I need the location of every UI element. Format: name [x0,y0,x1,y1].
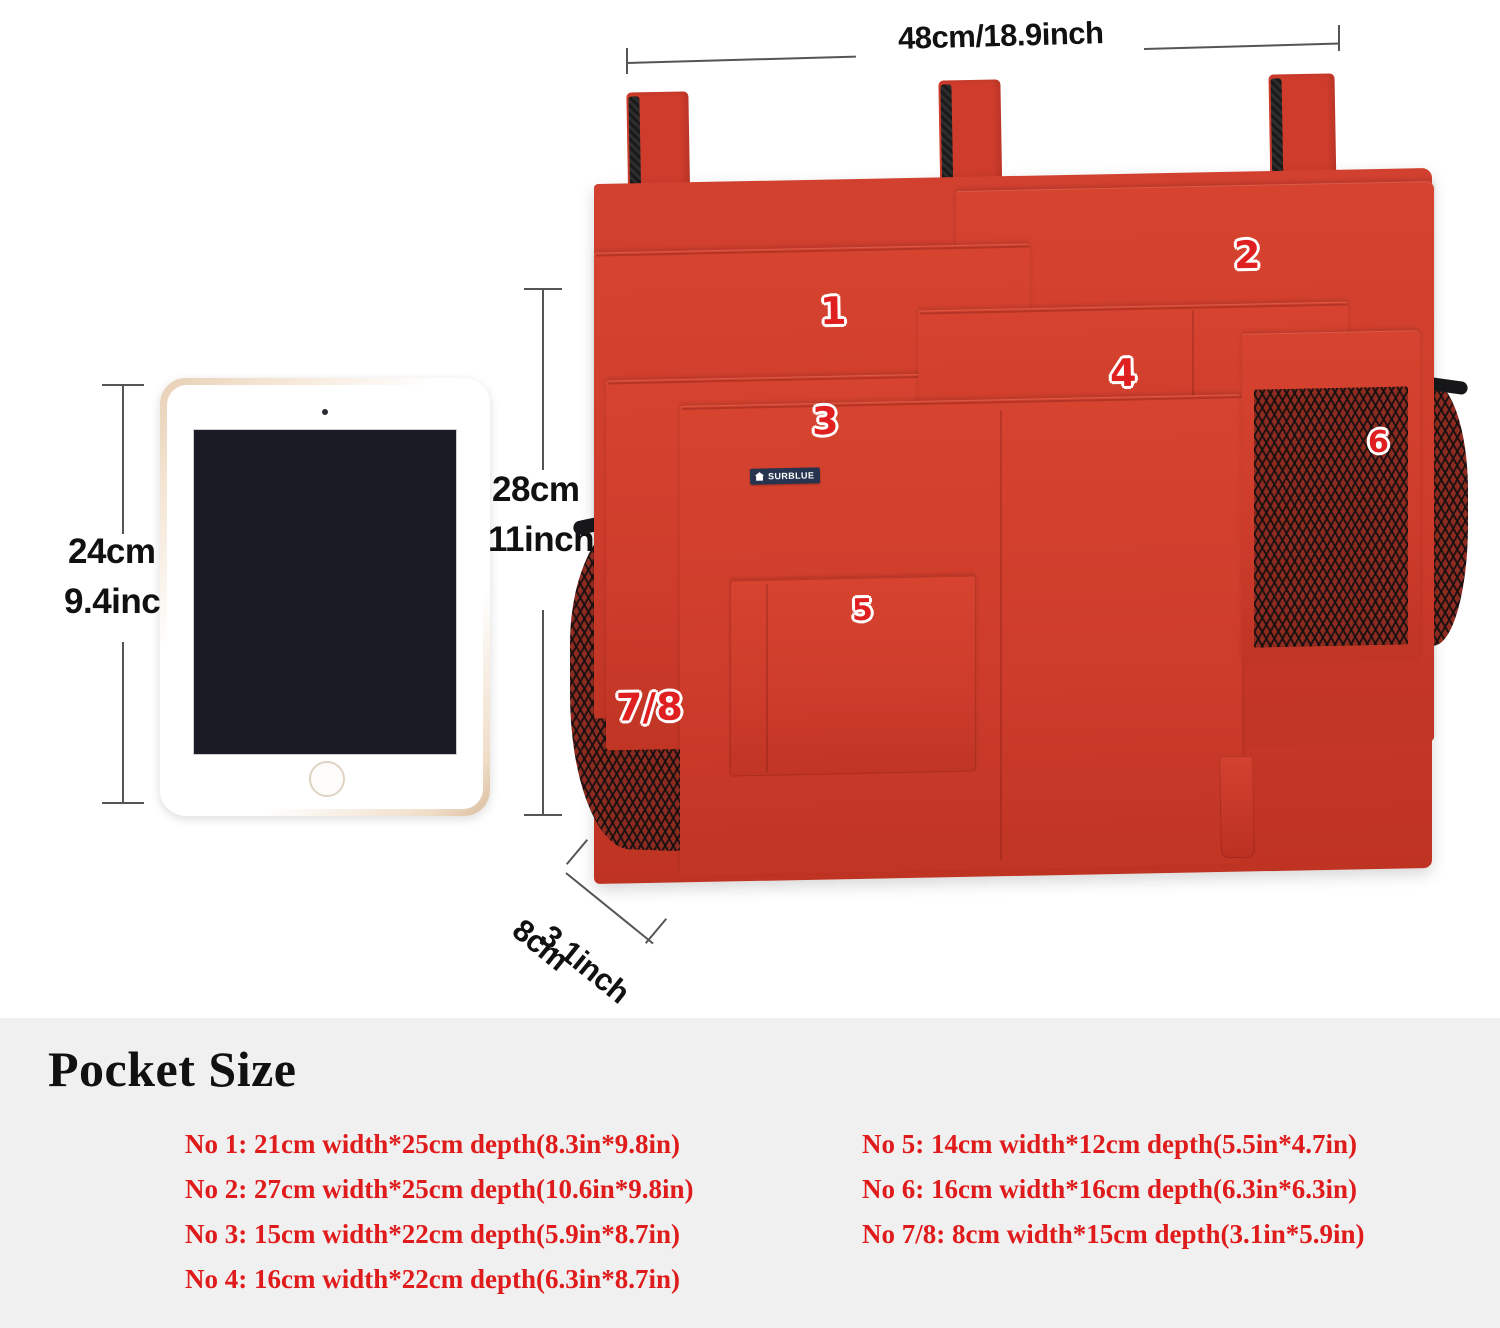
width-dimension-label: 48cm/18.9inch [898,15,1104,57]
pocket-marker-4: 4 [1110,354,1137,392]
pocket-5-side-seam [766,584,768,772]
pocket-marker-2: 2 [1234,236,1261,274]
tablet-height-cm-label: 24cm [68,532,156,572]
pocket-marker-1: 1 [820,292,847,330]
product-illustration-panel: 48cm/18.9inch 28cm 11inch 8cm 3.1inch 24… [0,0,1500,1018]
pocket-marker-6: 6 [1368,428,1389,458]
width-dim-cap-left [626,48,628,74]
height-dim-cap-top [524,288,562,290]
tablet-reference-object [160,378,490,816]
tablet-home-button [309,761,345,797]
brand-name: SURBLUE [768,470,815,481]
height-dimension-cm-label: 28cm [492,470,580,510]
tablet-screen [193,429,457,755]
tablet-bezel [167,385,483,809]
pocket-marker-7-8: 7/8 [616,687,683,726]
front-main-divider-seam [1000,410,1002,860]
width-dim-line-left [626,56,856,64]
pocket-size-left-column: No 1: 21cm width*25cm depth(8.3in*9.8in)… [185,1122,694,1302]
house-icon [754,471,765,481]
pocket-size-row-4: No 4: 16cm width*22cm depth(6.3in*8.7in) [185,1257,694,1302]
pocket-marker-5: 5 [852,596,873,626]
brand-label: SURBLUE [750,467,821,484]
pocket-size-row-3: No 3: 15cm width*22cm depth(5.9in*8.7in) [185,1212,694,1257]
pocket-size-right-column: No 5: 14cm width*12cm depth(5.5in*4.7in)… [862,1122,1365,1257]
bedside-organizer-product: SURBLUE 1 2 3 4 5 6 7/8 [570,80,1470,940]
tablet-dim-cap-top [102,384,144,386]
pocket-size-row-1: No 1: 21cm width*25cm depth(8.3in*9.8in) [185,1122,694,1167]
height-dim-line-lower [542,610,544,816]
infographic-root: 48cm/18.9inch 28cm 11inch 8cm 3.1inch 24… [0,0,1500,1328]
pocket-size-row-5: No 5: 14cm width*12cm depth(5.5in*4.7in) [862,1122,1365,1167]
tablet-dim-line-upper [122,384,124,534]
height-dim-cap-bottom [524,814,562,816]
height-dim-line-upper [542,288,544,470]
pocket-marker-3: 3 [812,402,839,440]
tablet-dim-cap-bottom [102,802,144,804]
pocket-size-title: Pocket Size [48,1040,296,1098]
pocket-size-panel: Pocket Size No 1: 21cm width*25cm depth(… [0,1018,1500,1328]
tablet-camera-icon [322,409,328,415]
pocket-size-row-6: No 6: 16cm width*16cm depth(6.3in*6.3in) [862,1167,1365,1212]
pocket-size-row-7-8: No 7/8: 8cm width*15cm depth(3.1in*5.9in… [862,1212,1365,1257]
width-dim-line-right [1144,43,1340,50]
width-dim-cap-right [1338,25,1340,51]
pocket-size-row-2: No 2: 27cm width*25cm depth(10.6in*9.8in… [185,1167,694,1212]
tablet-dim-line-lower [122,642,124,804]
bottom-pull-tab [1219,756,1255,859]
